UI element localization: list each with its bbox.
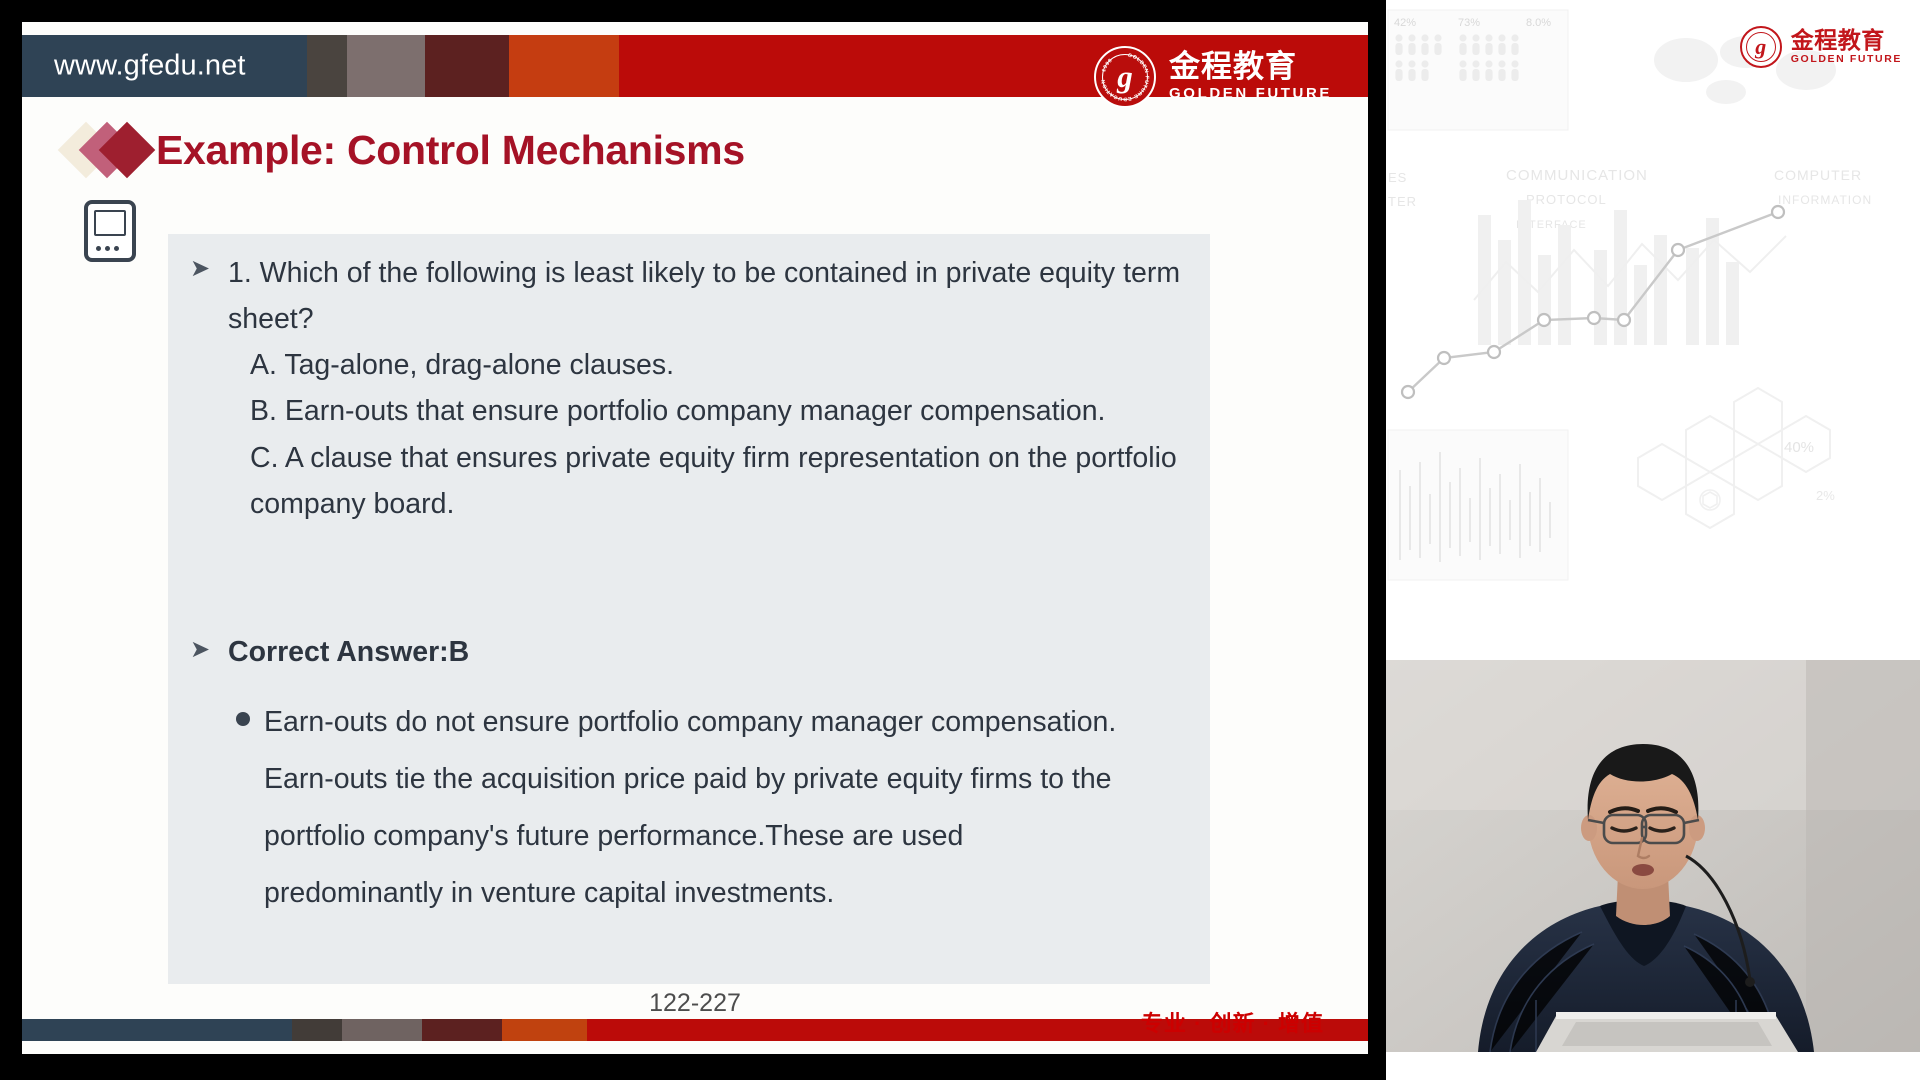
banner-band-taupe: [347, 35, 425, 97]
svg-text:ES: ES: [1388, 170, 1407, 185]
svg-text:PROTOCOL: PROTOCOL: [1526, 192, 1607, 207]
slide-canvas: www.gfedu.net GOLDEN FUTURE EDUCATION · …: [22, 22, 1368, 1054]
brand-logo-text: 金程教育 GOLDEN FUTURE: [1169, 51, 1332, 103]
footer-band-taupe: [342, 1019, 422, 1041]
footer-band-dark: [292, 1019, 342, 1041]
explanation-block: Earn-outs do not ensure portfolio compan…: [236, 694, 1188, 922]
svg-text:COMPUTER: COMPUTER: [1774, 167, 1862, 183]
svg-text:42%: 42%: [1394, 17, 1416, 29]
svg-text:2%: 2%: [1816, 488, 1835, 503]
seal-letter: g: [1096, 48, 1154, 106]
slide-title-row: Example: Control Mechanisms: [66, 114, 745, 186]
footer-band-navy: [22, 1019, 292, 1041]
footer-band-orange: [502, 1019, 587, 1041]
right-panel-seal-letter: g: [1742, 28, 1780, 66]
option-a: A. Tag-alone, drag-alone clauses.: [250, 342, 1188, 388]
diamond-decoration-icon: [66, 119, 152, 181]
banner-band-maroon: [425, 35, 509, 97]
right-panel-logo-text: 金程教育 GOLDEN FUTURE: [1791, 28, 1902, 66]
calculator-icon: [84, 200, 136, 262]
page-title: Example: Control Mechanisms: [156, 127, 745, 174]
right-column: 42% 73% 8.0%: [1386, 0, 1920, 1080]
brand-logo: GOLDEN FUTURE EDUCATION · 1998 · g 金程教育 …: [1094, 42, 1332, 112]
right-panel-seal-icon: g: [1740, 26, 1782, 68]
calculator-keys: [96, 246, 119, 251]
site-url-label: www.gfedu.net: [54, 50, 246, 83]
question-body: 1. Which of the following is least likel…: [228, 250, 1188, 527]
player-stage: www.gfedu.net GOLDEN FUTURE EDUCATION · …: [0, 0, 1920, 1080]
arrow-bullet-icon: ➤: [190, 250, 216, 527]
question-block: ➤ 1. Which of the following is least lik…: [190, 250, 1188, 527]
correct-answer-label: Correct Answer:B: [228, 631, 469, 674]
right-panel-logo: g 金程教育 GOLDEN FUTURE: [1740, 26, 1902, 68]
calculator-key: [96, 246, 101, 251]
footer-band-maroon: [422, 1019, 502, 1041]
banner-band-dark: [307, 35, 347, 97]
decorative-infographic: 42% 73% 8.0%: [1386, 0, 1920, 660]
webcam-video-feed[interactable]: [1386, 660, 1920, 1052]
option-b: B. Earn-outs that ensure portfolio compa…: [250, 388, 1188, 434]
brand-name-en: GOLDEN FUTURE: [1169, 84, 1332, 104]
svg-text:8.0%: 8.0%: [1526, 17, 1551, 29]
svg-text:COMMUNICATION: COMMUNICATION: [1506, 167, 1648, 184]
svg-text:TER: TER: [1388, 194, 1417, 209]
content-panel: ➤ 1. Which of the following is least lik…: [168, 234, 1210, 984]
svg-text:INFORMATION: INFORMATION: [1778, 193, 1872, 207]
calculator-key: [114, 246, 119, 251]
option-c: C. A clause that ensures private equity …: [250, 435, 1188, 527]
brand-name-cn: 金程教育: [1169, 51, 1332, 84]
banner-band-navy: www.gfedu.net: [22, 35, 307, 97]
arrow-bullet-icon: ➤: [190, 631, 216, 674]
question-text: 1. Which of the following is least likel…: [228, 250, 1188, 342]
explanation-text: Earn-outs do not ensure portfolio compan…: [264, 694, 1144, 922]
dot-bullet-icon: [236, 712, 250, 726]
svg-text:73%: 73%: [1458, 17, 1480, 29]
banner-band-orange: [509, 35, 619, 97]
calculator-screen: [94, 210, 126, 236]
footer-tagline: 专业 · 创新 · 增值: [1141, 1006, 1324, 1038]
brand-seal-icon: GOLDEN FUTURE EDUCATION · 1998 · g: [1094, 46, 1156, 108]
svg-text:40%: 40%: [1784, 439, 1814, 456]
right-panel-brand-en: GOLDEN FUTURE: [1791, 53, 1902, 67]
calculator-key: [105, 246, 110, 251]
right-panel-brand-cn: 金程教育: [1791, 28, 1902, 53]
answer-block: ➤ Correct Answer:B: [190, 631, 1188, 674]
